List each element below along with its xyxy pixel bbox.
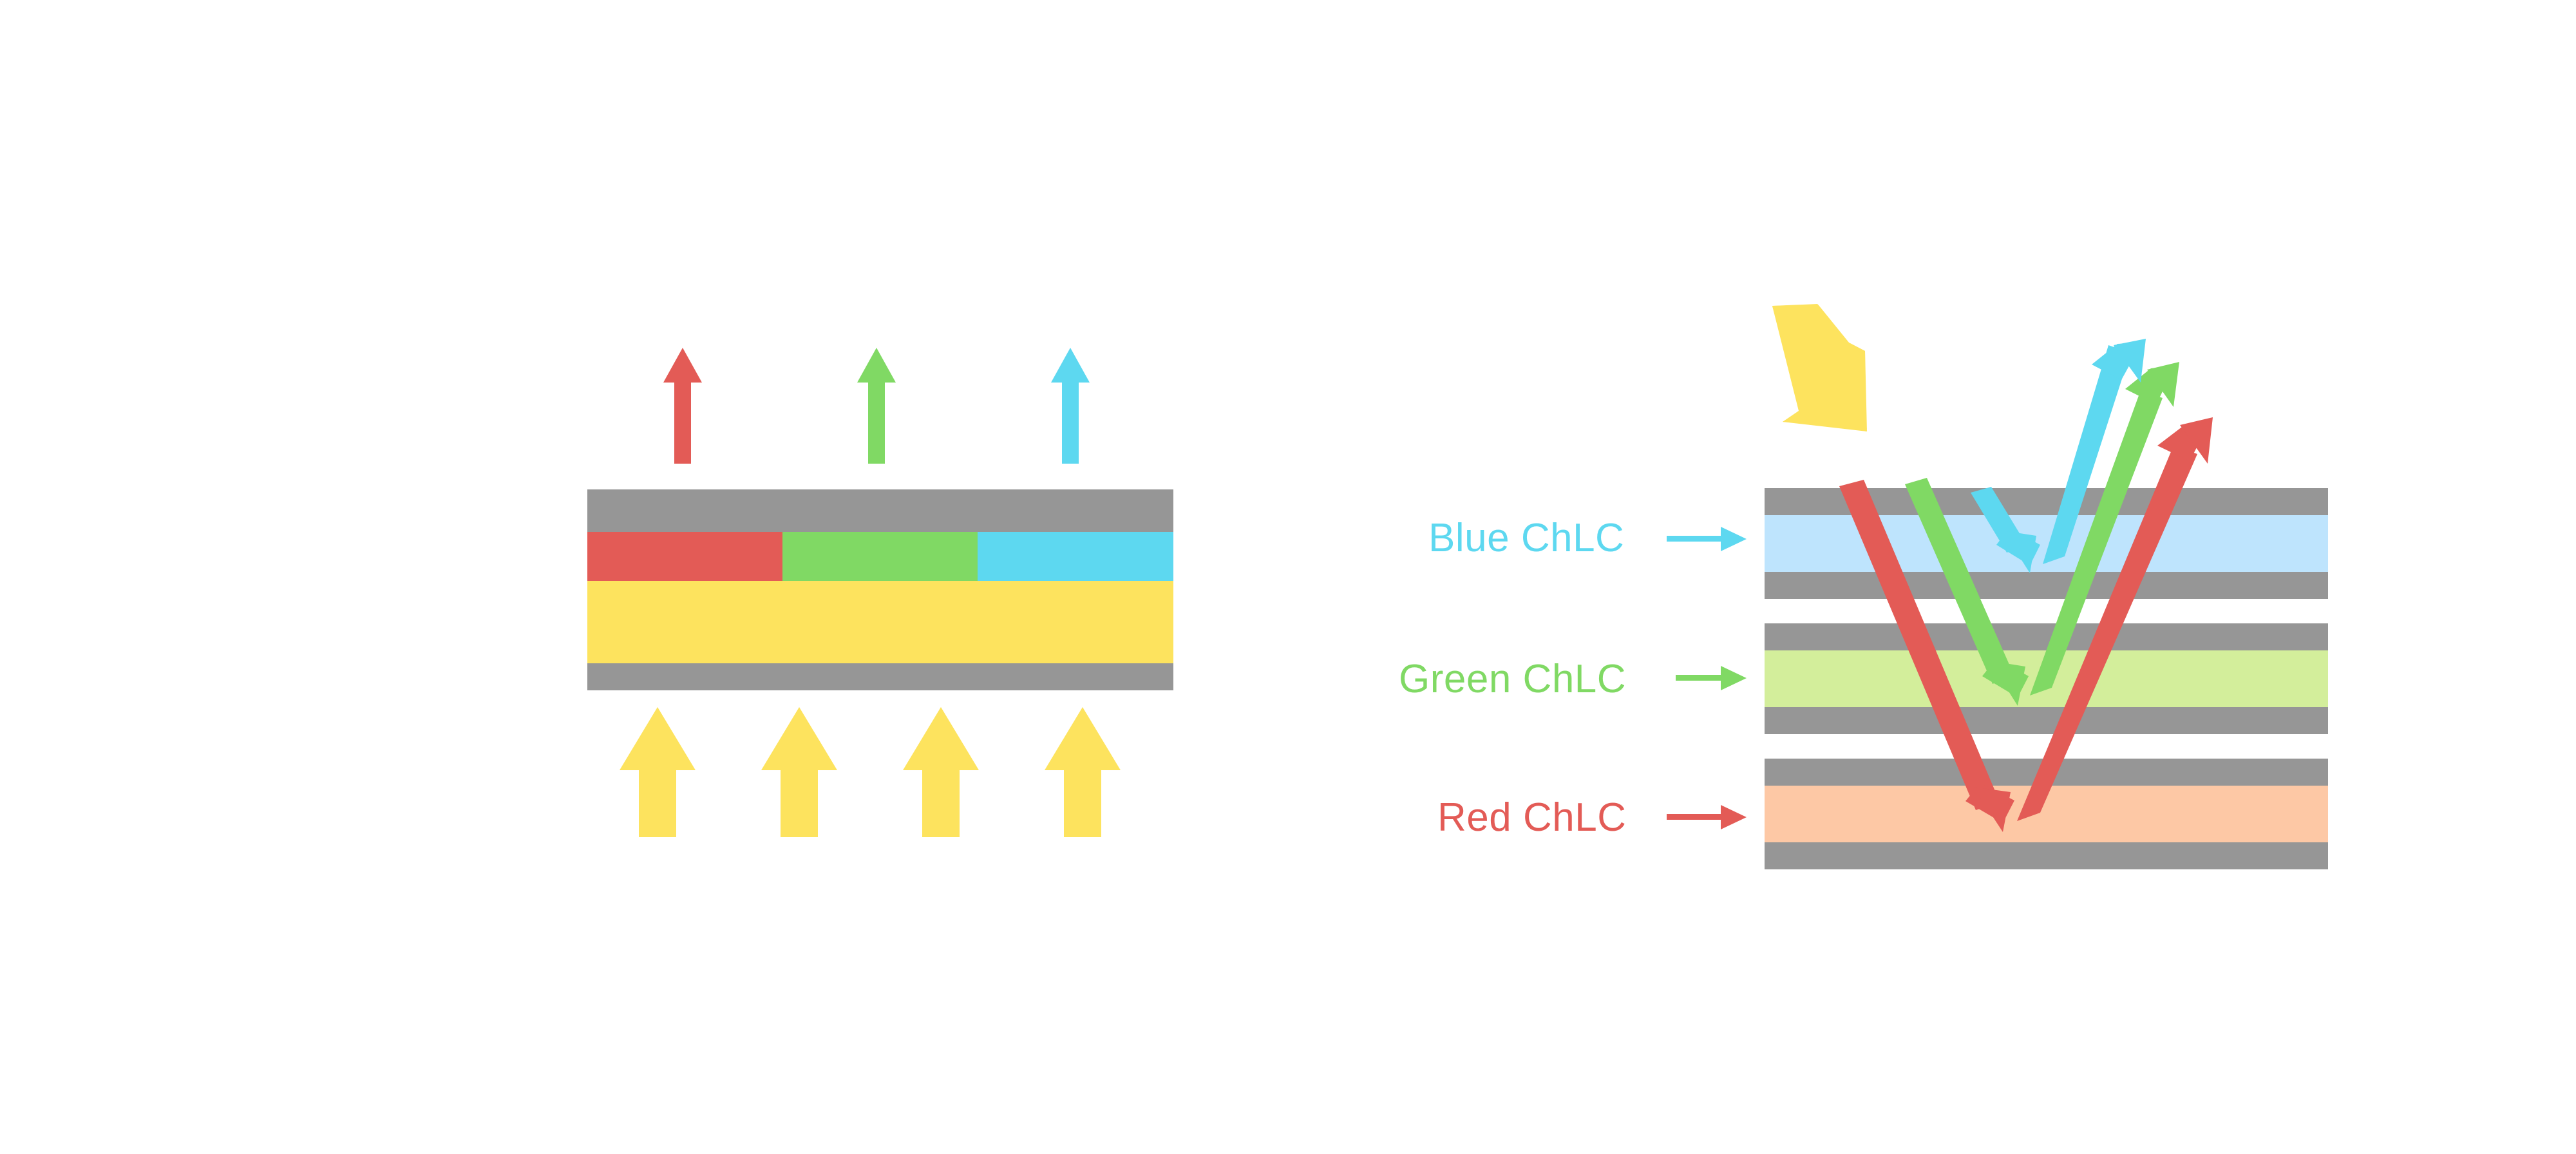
right-band-blue-chlc [1765, 515, 2328, 572]
right-band-gray-6 [1765, 842, 2328, 869]
left-segment-green-filter [782, 532, 978, 581]
right-band-gray-3 [1765, 623, 2328, 650]
left-stack [587, 489, 1173, 690]
right-band-gray-4 [1765, 707, 2328, 734]
blue-chlc-label-text: Blue ChLC [1428, 516, 1624, 560]
left-segment-blue-filter [978, 532, 1173, 581]
right-band-gray-2 [1765, 572, 2328, 599]
left-layer-backlight [587, 581, 1173, 663]
left-segment-red-filter [587, 532, 782, 581]
red-chlc-label-text: Red ChLC [1437, 795, 1626, 840]
green-chlc-label-text: Green ChLC [1399, 657, 1626, 701]
diagram-root: Blue ChLC Green ChLC Red ChLC [0, 0, 2576, 1154]
diagram-canvas: Blue ChLC Green ChLC Red ChLC [0, 0, 2576, 1154]
left-layer-top-electrode [587, 489, 1173, 532]
left-layer-bottom-electrode [587, 663, 1173, 690]
